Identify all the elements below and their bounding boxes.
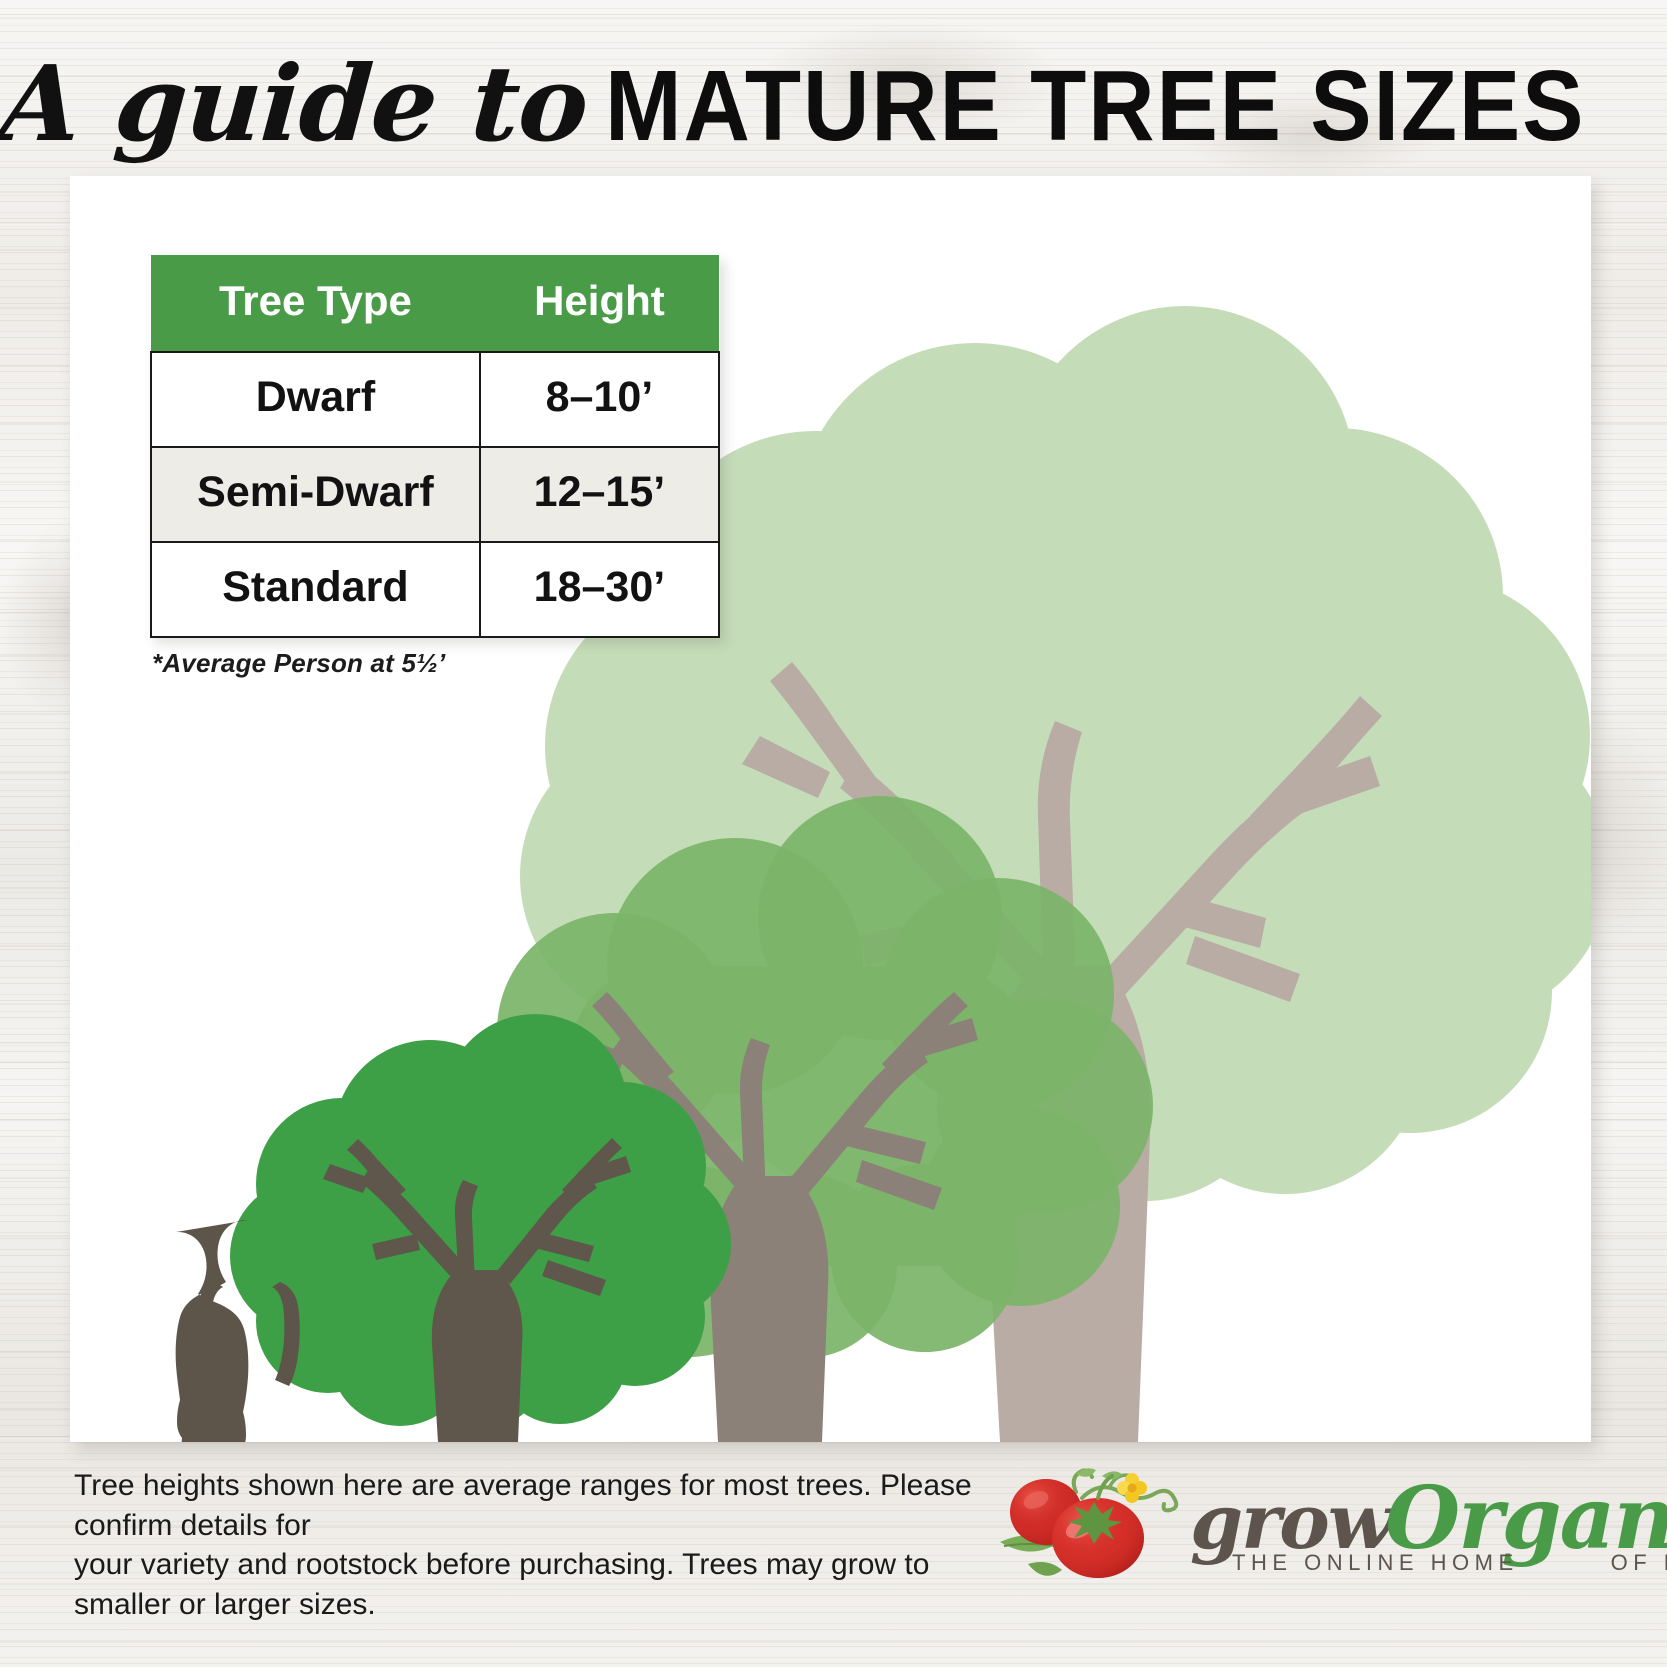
disclaimer-text: Tree heights shown here are average rang… — [74, 1466, 974, 1624]
logo-tagline-left: THE ONLINE HOME — [1232, 1550, 1519, 1575]
table-header-row: Tree Type Height — [151, 255, 719, 352]
table-footnote: *Average Person at 5½’ — [152, 648, 445, 679]
table-row: Standard 18–30’ — [151, 542, 719, 637]
page-title-condensed: MATURE TREE SIZES — [605, 56, 1585, 156]
disclaimer-line-2: your variety and rootstock before purcha… — [74, 1545, 974, 1624]
disclaimer-line-1: Tree heights shown here are average rang… — [74, 1466, 974, 1545]
infographic-card: Tree Type Height Dwarf 8–10’ Semi-Dwarf … — [70, 176, 1591, 1442]
logo-tagline: THE ONLINE HOMEOF PEACEFUL VALLEY — [1232, 1550, 1667, 1576]
cell-height: 12–15’ — [480, 447, 719, 542]
cell-tree-type: Semi-Dwarf — [151, 447, 480, 542]
page-title: A guide toMATURE TREE SIZES — [0, 52, 1667, 162]
tree-size-table: Tree Type Height Dwarf 8–10’ Semi-Dwarf … — [150, 255, 720, 638]
grow-organic-logo[interactable]: growOrganic.COM THE ONLINE HOMEOF PEACEF… — [1000, 1438, 1600, 1598]
table-row: Dwarf 8–10’ — [151, 352, 719, 447]
logo-tagline-right: OF PEACEFUL VALLEY — [1611, 1550, 1667, 1575]
cell-tree-type: Standard — [151, 542, 480, 637]
column-header-tree-type: Tree Type — [151, 255, 480, 352]
cell-height: 18–30’ — [480, 542, 719, 637]
cell-tree-type: Dwarf — [151, 352, 480, 447]
cell-height: 8–10’ — [480, 352, 719, 447]
tomato-illustration — [990, 1446, 1205, 1591]
table-row: Semi-Dwarf 12–15’ — [151, 447, 719, 542]
column-header-height: Height — [480, 255, 719, 352]
page-title-script: A guide to — [0, 52, 591, 156]
